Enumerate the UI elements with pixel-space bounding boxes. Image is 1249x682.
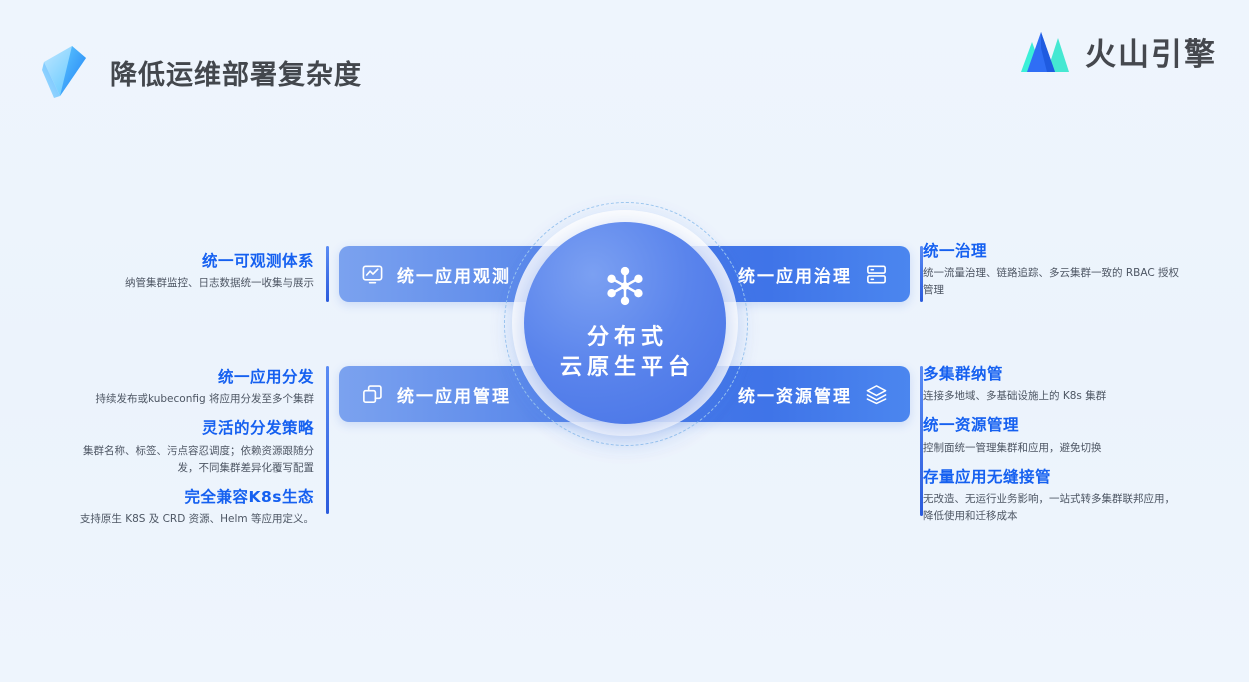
divider-left-top xyxy=(326,246,329,302)
feature-sub: 纳管集群监控、日志数据统一收集与展示 xyxy=(70,275,314,292)
feature-heading: 多集群纳管 xyxy=(923,363,1179,385)
feature-sub: 支持原生 K8S 及 CRD 资源、Helm 等应用定义。 xyxy=(70,511,314,528)
feature-block: 统一资源管理 控制面统一管理集群和应用，避免切换 xyxy=(923,414,1179,456)
panel-right-top: 统一治理 统一流量治理、链路追踪、多云集群一致的 RBAC 授权管理 xyxy=(923,240,1179,299)
feature-sub: 无改造、无运行业务影响，一站式转多集群联邦应用，降低使用和迁移成本 xyxy=(923,491,1179,525)
panel-right-bottom: 多集群纳管 连接多地域、多基础设施上的 K8s 集群 统一资源管理 控制面统一管… xyxy=(923,363,1179,525)
feature-sub: 统一流量治理、链路追踪、多云集群一致的 RBAC 授权管理 xyxy=(923,265,1179,299)
panel-left-bottom: 统一应用分发 持续发布或kubeconfig 将应用分发至多个集群 灵活的分发策… xyxy=(70,366,314,528)
feature-block: 统一治理 统一流量治理、链路追踪、多云集群一致的 RBAC 授权管理 xyxy=(923,240,1179,299)
network-hub-icon xyxy=(602,263,648,309)
prism-icon xyxy=(40,44,92,100)
center-title-line2: 云原生平台 xyxy=(555,353,695,383)
feature-block: 统一可观测体系 纳管集群监控、日志数据统一收集与展示 xyxy=(70,250,314,292)
feature-block: 完全兼容K8s生态 支持原生 K8S 及 CRD 资源、Helm 等应用定义。 xyxy=(70,486,314,528)
brand-name: 火山引擎 xyxy=(1085,29,1217,74)
feature-sub: 控制面统一管理集群和应用，避免切换 xyxy=(923,440,1179,457)
copy-windows-icon xyxy=(361,383,384,406)
feature-heading: 统一应用分发 xyxy=(70,366,314,388)
divider-left-bottom xyxy=(326,366,329,514)
feature-heading: 灵活的分发策略 xyxy=(70,417,314,439)
volcano-mountain-icon xyxy=(1017,28,1073,74)
feature-heading: 统一可观测体系 xyxy=(70,250,314,272)
monitor-chart-icon xyxy=(361,263,384,286)
center-title: 分布式 云原生平台 xyxy=(555,323,695,382)
feature-heading: 统一资源管理 xyxy=(923,414,1179,436)
feature-sub: 连接多地域、多基础设施上的 K8s 集群 xyxy=(923,388,1179,405)
layers-icon xyxy=(865,383,888,406)
page-title: 降低运维部署复杂度 xyxy=(40,44,362,100)
page-title-text: 降低运维部署复杂度 xyxy=(110,53,362,92)
feature-sub: 集群名称、标签、污点容忍调度；依赖资源跟随分发，不同集群差异化覆写配置 xyxy=(70,443,314,477)
center-title-line1: 分布式 xyxy=(555,323,695,353)
feature-sub: 持续发布或kubeconfig 将应用分发至多个集群 xyxy=(70,391,314,408)
server-stack-icon xyxy=(865,263,888,286)
center-core-circle: 分布式 云原生平台 xyxy=(524,222,726,424)
feature-block: 多集群纳管 连接多地域、多基础设施上的 K8s 集群 xyxy=(923,363,1179,405)
feature-block: 灵活的分发策略 集群名称、标签、污点容忍调度；依赖资源跟随分发，不同集群差异化覆… xyxy=(70,417,314,476)
bar-label: 统一资源管理 xyxy=(738,382,852,407)
bar-label: 统一应用观测 xyxy=(397,262,511,287)
feature-block: 存量应用无缝接管 无改造、无运行业务影响，一站式转多集群联邦应用，降低使用和迁移… xyxy=(923,466,1179,525)
feature-heading: 存量应用无缝接管 xyxy=(923,466,1179,488)
feature-block: 统一应用分发 持续发布或kubeconfig 将应用分发至多个集群 xyxy=(70,366,314,408)
feature-heading: 完全兼容K8s生态 xyxy=(70,486,314,508)
bar-label: 统一应用治理 xyxy=(738,262,852,287)
slide-root: 降低运维部署复杂度 火山引擎 统一应用观测 统一应用治理 xyxy=(0,0,1249,682)
brand-logo: 火山引擎 xyxy=(1017,28,1217,74)
feature-heading: 统一治理 xyxy=(923,240,1179,262)
bar-label: 统一应用管理 xyxy=(397,382,511,407)
panel-left-top: 统一可观测体系 纳管集群监控、日志数据统一收集与展示 xyxy=(70,250,314,292)
